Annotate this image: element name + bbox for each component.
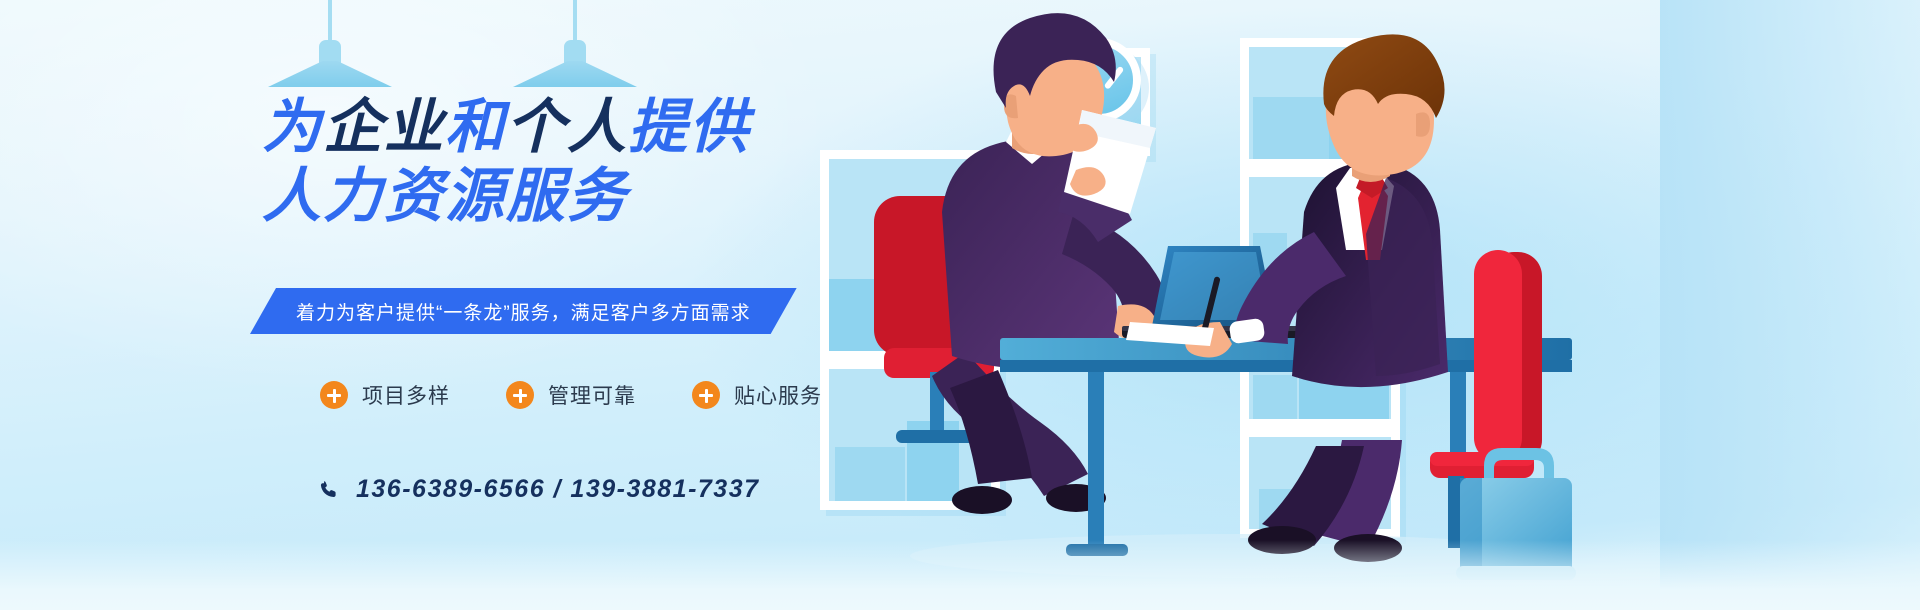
headline-part-4: 个人	[506, 94, 628, 160]
bottom-fade	[0, 540, 1920, 610]
plus-icon	[692, 381, 720, 409]
contact-row[interactable]: 136-6389-6566 / 139-3881-7337	[318, 475, 760, 504]
hero-banner: 为企业和个人提供 人力资源服务 着力为客户提供“一条龙”服务，满足客户多方面需求…	[0, 0, 1920, 610]
business-meeting-illustration	[830, 0, 1650, 610]
phone-icon	[318, 478, 340, 502]
plus-icon	[320, 381, 348, 409]
headline-part-1: 为	[262, 94, 323, 160]
headline-part-2: 企业	[323, 94, 445, 160]
phone-numbers: 136-6389-6566 / 139-3881-7337	[356, 475, 760, 504]
wall-panel	[1660, 0, 1920, 610]
feature-label: 管理可靠	[548, 380, 636, 410]
feature-item-2[interactable]: 管理可靠	[506, 380, 636, 410]
subtitle-banner: 着力为客户提供“一条龙”服务，满足客户多方面需求	[250, 288, 797, 334]
subtitle-text: 着力为客户提供“一条龙”服务，满足客户多方面需求	[296, 298, 751, 325]
shoe-left-2	[952, 486, 1012, 514]
plus-icon	[506, 381, 534, 409]
headline-line-2: 人力资源服务	[262, 165, 902, 227]
lamp-cord	[328, 0, 332, 44]
headline-part-3: 和	[445, 94, 506, 160]
feature-label: 贴心服务	[734, 380, 822, 410]
feature-list: 项目多样 管理可靠 贴心服务	[320, 380, 822, 410]
page-title: 为企业和个人提供 人力资源服务	[262, 96, 902, 227]
headline-part-5: 提供	[628, 94, 750, 160]
feature-item-1[interactable]: 项目多样	[320, 380, 450, 410]
lamp-cord	[573, 0, 577, 44]
feature-label: 项目多样	[362, 380, 450, 410]
feature-item-3[interactable]: 贴心服务	[692, 380, 822, 410]
